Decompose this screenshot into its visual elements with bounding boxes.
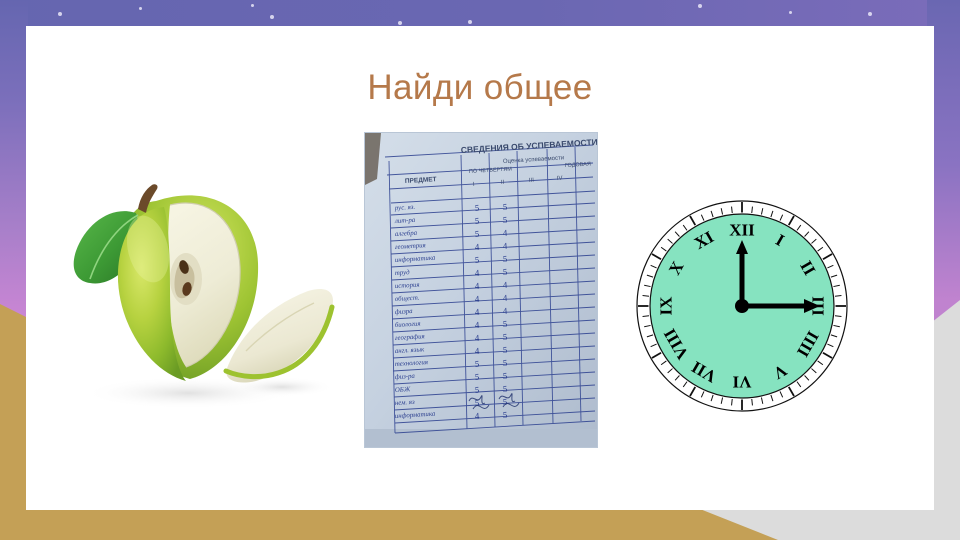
diary-subject-name: лит-ра <box>394 217 416 225</box>
decor-sparkle <box>789 11 792 14</box>
slide-canvas: Найди общее <box>26 26 934 510</box>
diary-subject-name: труд <box>395 269 411 277</box>
diary-subject-name: физра <box>395 308 414 316</box>
decor-purple-left-band <box>0 0 28 332</box>
decor-sparkle <box>270 15 274 19</box>
diary-subject-name: общест. <box>395 295 420 303</box>
decor-sparkle <box>468 20 472 24</box>
decor-sparkle <box>868 12 872 16</box>
diary-quarter-3: III <box>529 178 535 184</box>
clock-numeral-VI: VI <box>732 373 751 392</box>
diary-subject-name: рус. яз. <box>394 204 416 212</box>
school-diary-photo: СВЕДЕНИЯ ОБ УСПЕВАЕМОСТИ Оценка успеваем… <box>365 133 597 447</box>
clock-center-pin <box>735 299 749 313</box>
decor-sparkle <box>698 4 702 8</box>
clock-tick <box>752 207 753 213</box>
slide-title: Найди общее <box>26 68 934 108</box>
diary-subject-name: история <box>395 282 420 290</box>
school-diary-graphic: СВЕДЕНИЯ ОБ УСПЕВАЕМОСТИ Оценка успеваем… <box>365 133 597 447</box>
diary-page-bottom-edge <box>365 429 597 447</box>
clock-numeral-XII: XII <box>729 221 755 240</box>
green-apple-photo <box>60 171 340 416</box>
clock-tick <box>732 399 733 405</box>
decor-gold-bottom-band <box>0 509 700 540</box>
clock-tick <box>835 296 841 297</box>
slide-root: Найди общее <box>0 0 960 540</box>
diary-subject-name: алгебра <box>395 230 418 238</box>
clock-tick <box>752 399 753 405</box>
diary-subject-name: ОБЖ <box>395 386 411 394</box>
diary-subject-name: физ-ра <box>395 373 416 381</box>
decor-sparkle <box>251 4 254 7</box>
green-apple-graphic <box>60 171 340 416</box>
clock-tick <box>643 316 649 317</box>
clock-graphic: XIIIIIIIIIIIIVVIVIIVIIIIXXXI <box>634 198 850 414</box>
diary-subject-name: нем. яз <box>395 399 415 407</box>
diary-quarter-4: IV <box>557 176 563 182</box>
clock-tick <box>643 296 649 297</box>
clock-numeral-IX: IX <box>657 296 676 316</box>
decor-gold-left-band <box>0 318 28 540</box>
clock-tick <box>732 207 733 213</box>
clock-tick <box>835 316 841 317</box>
decor-sparkle <box>139 7 142 10</box>
decor-sparkle <box>398 21 402 25</box>
clock-illustration: XIIIIIIIIIIIIVVIVIIVIIIIXXXI <box>634 198 850 414</box>
decor-sparkle <box>58 12 62 16</box>
